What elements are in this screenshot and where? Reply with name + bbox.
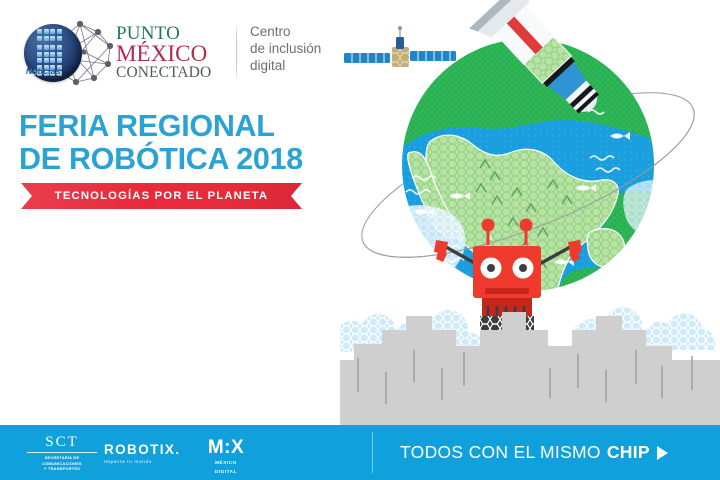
page-title: FERIA REGIONAL DE ROBÓTICA 2018 (19, 110, 349, 176)
chip-slogan-prefix: TODOS CON EL MISMO (400, 442, 601, 463)
sct-rule (27, 452, 97, 453)
sct-logo[interactable]: SCT SECRETARÍA DE COMUNICACIONES Y TRANS… (27, 435, 97, 472)
mxd-acronym: M:X (196, 438, 256, 457)
satellite-icon (344, 26, 456, 67)
subtitle-ribbon: TECNOLOGÍAS POR EL PLANETA (21, 183, 302, 209)
robotix-logo[interactable]: ROBOTIX. Impacta tu mundo (104, 443, 186, 464)
pmc-wordmark: PUNTO MÉXICO CONECTADO (116, 24, 226, 81)
robotix-acronym: ROBOTIX. (104, 443, 186, 457)
mexico-digital-logo[interactable]: M:X MÉXICO DIGITAL (196, 438, 256, 476)
punto-mexico-conectado-logo: Noticias PUNTO MÉXICO CONECTADO Centro d… (18, 16, 318, 92)
chip-slogan-highlight: CHIP (607, 442, 650, 463)
footer-bar: SCT SECRETARÍA DE COMUNICACIONES Y TRANS… (0, 425, 720, 480)
mxd-line-2: DIGITAL (196, 469, 256, 475)
sct-acronym: SCT (27, 435, 97, 450)
play-triangle-icon (657, 446, 668, 460)
ribbon-label: TECNOLOGÍAS POR EL PLANETA (21, 183, 302, 209)
headline-line-1: FERIA REGIONAL (19, 109, 275, 143)
robotix-tagline: Impacta tu mundo (104, 459, 186, 464)
pmc-word-mexico: MÉXICO (116, 42, 226, 65)
left-content-column: Noticias PUNTO MÉXICO CONECTADO Centro d… (0, 0, 370, 425)
hero-illustration (340, 0, 720, 425)
pmc-word-conectado: CONECTADO (116, 65, 226, 81)
footer-divider (372, 432, 373, 473)
noticias-wordmark: Noticias (25, 66, 61, 76)
logo-divider (236, 22, 237, 82)
poster-canvas: Noticias PUNTO MÉXICO CONECTADO Centro d… (0, 0, 720, 480)
chip-slogan[interactable]: TODOS CON EL MISMO CHIP (400, 425, 668, 480)
illustration-svg (340, 0, 720, 425)
sct-line-3: Y TRANSPORTES (27, 466, 97, 472)
mxd-line-1: MÉXICO (196, 460, 256, 466)
headline-line-2: DE ROBÓTICA 2018 (19, 143, 349, 176)
